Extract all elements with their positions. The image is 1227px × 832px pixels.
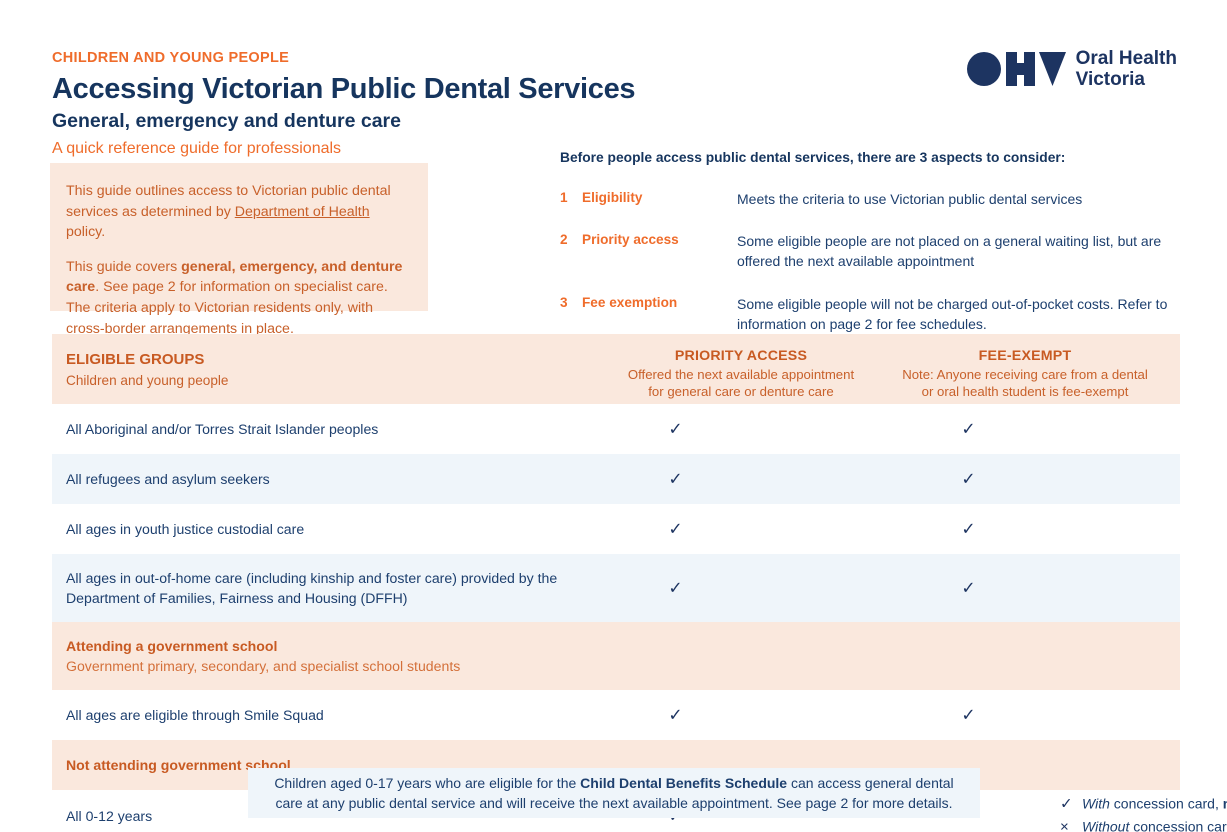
header-cell-eligible-groups: ELIGIBLE GROUPS Children and young peopl… (52, 334, 612, 404)
header-title: FEE-EXEMPT (870, 348, 1180, 364)
row-fee-cell: ✓ (870, 554, 1180, 622)
eyebrow-label: CHILDREN AND YOUNG PEOPLE (52, 50, 635, 67)
row-label-cell: All Aboriginal and/or Torres Strait Isla… (52, 404, 612, 454)
check-icon: ✓ (870, 707, 1180, 724)
header-subtitle-line2: or oral health student is fee-exempt (922, 384, 1129, 399)
row-label-cell: All ages are eligible through Smile Squa… (52, 690, 612, 740)
check-icon: ✓ (612, 471, 870, 488)
fee-condition-with-card: ✓ With concession card, no out-of-pocket… (1060, 794, 1180, 817)
row-label: All ages in youth justice custodial care (66, 519, 612, 539)
aspect-number: 3 (560, 295, 582, 335)
aspect-description: Some eligible people will not be charged… (737, 295, 1190, 335)
check-icon: ✓ (612, 707, 870, 724)
row-priority-cell: ✓ (612, 554, 870, 622)
page-subtitle: General, emergency and denture care (52, 109, 635, 133)
row-fee-cell: ✓ (870, 504, 1180, 554)
table-row: All refugees and asylum seekers ✓ ✓ (52, 454, 1180, 504)
table-header-row: ELIGIBLE GROUPS Children and young peopl… (52, 334, 1180, 404)
aspect-number: 1 (560, 190, 582, 210)
fee-condition-text: With concession card, no out-of-pocket c… (1082, 794, 1227, 815)
check-icon: ✓ (870, 521, 1180, 538)
check-icon: ✓ (870, 471, 1180, 488)
page-header: CHILDREN AND YOUNG PEOPLE Accessing Vict… (52, 50, 635, 159)
eligibility-table: ELIGIBLE GROUPS Children and young peopl… (52, 334, 1180, 832)
department-of-health-link[interactable]: Department of Health (235, 204, 370, 220)
info-p2-before: This guide covers (66, 259, 181, 275)
aspect-label: Priority access (582, 232, 737, 272)
row-fee-cell: ✓ (870, 454, 1180, 504)
fee-after: concession card, out-of-pocket costs (1129, 818, 1227, 832)
logo-wordmark: Oral Health Victoria (1076, 48, 1177, 91)
fee-italic: With (1082, 796, 1110, 812)
row-priority-cell: ✓ (612, 690, 870, 740)
document-page: CHILDREN AND YOUNG PEOPLE Accessing Vict… (0, 0, 1227, 832)
brand-logo: Oral Health Victoria (966, 48, 1177, 91)
section-label-cell: Attending a government school Government… (52, 622, 612, 690)
check-icon: ✓ (612, 421, 870, 438)
header-title: ELIGIBLE GROUPS (66, 350, 612, 370)
row-label-cell: All ages in out-of-home care (including … (52, 554, 612, 622)
row-label: All Aboriginal and/or Torres Strait Isla… (66, 419, 612, 439)
info-paragraph-1: This guide outlines access to Victorian … (66, 181, 408, 243)
row-label: All refugees and asylum seekers (66, 469, 612, 489)
row-label: All ages in out-of-home care (including … (66, 568, 612, 608)
section-priority-cell (612, 622, 870, 690)
header-subtitle-line1: Note: Anyone receiving care from a denta… (902, 367, 1148, 382)
section-fee-cell (870, 622, 1180, 690)
table-row: All ages in out-of-home care (including … (52, 554, 1180, 622)
header-subtitle: Children and young people (66, 372, 612, 390)
check-icon: ✓ (870, 421, 1180, 438)
info-p1-after: policy. (66, 224, 105, 240)
row-label-cell: All refugees and asylum seekers (52, 454, 612, 504)
logo-line-2: Victoria (1076, 69, 1145, 90)
aspect-item-priority-access: 2 Priority access Some eligible people a… (560, 232, 1190, 272)
fee-mid: concession card, (1110, 796, 1223, 812)
fee-bold: no (1223, 796, 1227, 812)
fee-italic: Without (1082, 818, 1129, 832)
check-icon: ✓ (870, 580, 1180, 597)
fee-condition-without-card: × Without concession card, out-of-pocket… (1060, 816, 1180, 832)
row-fee-cell: ✓ (870, 690, 1180, 740)
cross-icon: × (1060, 816, 1073, 832)
row-priority-cell: ✓ (612, 454, 870, 504)
aspects-section: Before people access public dental servi… (560, 150, 1190, 335)
table-row: All ages are eligible through Smile Squa… (52, 690, 1180, 740)
header-subtitle: Offered the next available appointment f… (612, 366, 870, 401)
check-icon: ✓ (612, 521, 870, 538)
guide-info-box: This guide outlines access to Victorian … (50, 163, 428, 311)
header-title: PRIORITY ACCESS (612, 348, 870, 364)
header-cell-fee-exempt: FEE-EXEMPT Note: Anyone receiving care f… (870, 334, 1180, 404)
ohv-monogram-icon (966, 49, 1066, 89)
row-fee-cell: ✓ (870, 404, 1180, 454)
header-subtitle-line1: Offered the next available appointment (628, 367, 854, 382)
page-title: Accessing Victorian Public Dental Servic… (52, 72, 635, 107)
row-label-cell: All ages in youth justice custodial care (52, 504, 612, 554)
aspect-item-eligibility: 1 Eligibility Meets the criteria to use … (560, 190, 1190, 210)
table-row: All ages in youth justice custodial care… (52, 504, 1180, 554)
fee-condition-text: Without concession card, out-of-pocket c… (1082, 816, 1227, 832)
aspect-description: Some eligible people are not placed on a… (737, 232, 1190, 272)
row-priority-cell: ✓ (612, 504, 870, 554)
header-subtitle-line2: for general care or denture care (648, 384, 833, 399)
footer-note-text: Children aged 0-17 years who are eligibl… (248, 773, 980, 814)
aspects-heading: Before people access public dental servi… (560, 150, 1190, 167)
row-label: All 0-12 years (66, 806, 152, 826)
footer-note-box: Children aged 0-17 years who are eligibl… (248, 768, 980, 818)
info-p2-after: . See page 2 for information on speciali… (66, 279, 388, 336)
section-title: Attending a government school (66, 636, 612, 656)
table-section-row-attending-government-school: Attending a government school Government… (52, 622, 1180, 690)
logo-line-1: Oral Health (1076, 48, 1177, 69)
aspect-item-fee-exemption: 3 Fee exemption Some eligible people wil… (560, 295, 1190, 335)
check-icon: ✓ (612, 580, 870, 597)
header-cell-priority-access: PRIORITY ACCESS Offered the next availab… (612, 334, 870, 404)
table-row: All Aboriginal and/or Torres Strait Isla… (52, 404, 1180, 454)
aspect-label: Eligibility (582, 190, 737, 210)
footer-bold: Child Dental Benefits Schedule (580, 775, 787, 791)
aspect-number: 2 (560, 232, 582, 272)
row-priority-cell: ✓ (612, 404, 870, 454)
info-paragraph-2: This guide covers general, emergency, an… (66, 257, 408, 339)
page-tagline: A quick reference guide for professional… (52, 139, 635, 160)
header-subtitle: Note: Anyone receiving care from a denta… (870, 366, 1180, 401)
aspect-label: Fee exemption (582, 295, 737, 335)
section-subtitle: Government primary, secondary, and speci… (66, 656, 612, 676)
check-icon: ✓ (1060, 794, 1073, 817)
footer-before: Children aged 0-17 years who are eligibl… (274, 775, 580, 791)
aspect-description: Meets the criteria to use Victorian publ… (737, 190, 1082, 210)
row-label: All ages are eligible through Smile Squa… (66, 705, 612, 725)
